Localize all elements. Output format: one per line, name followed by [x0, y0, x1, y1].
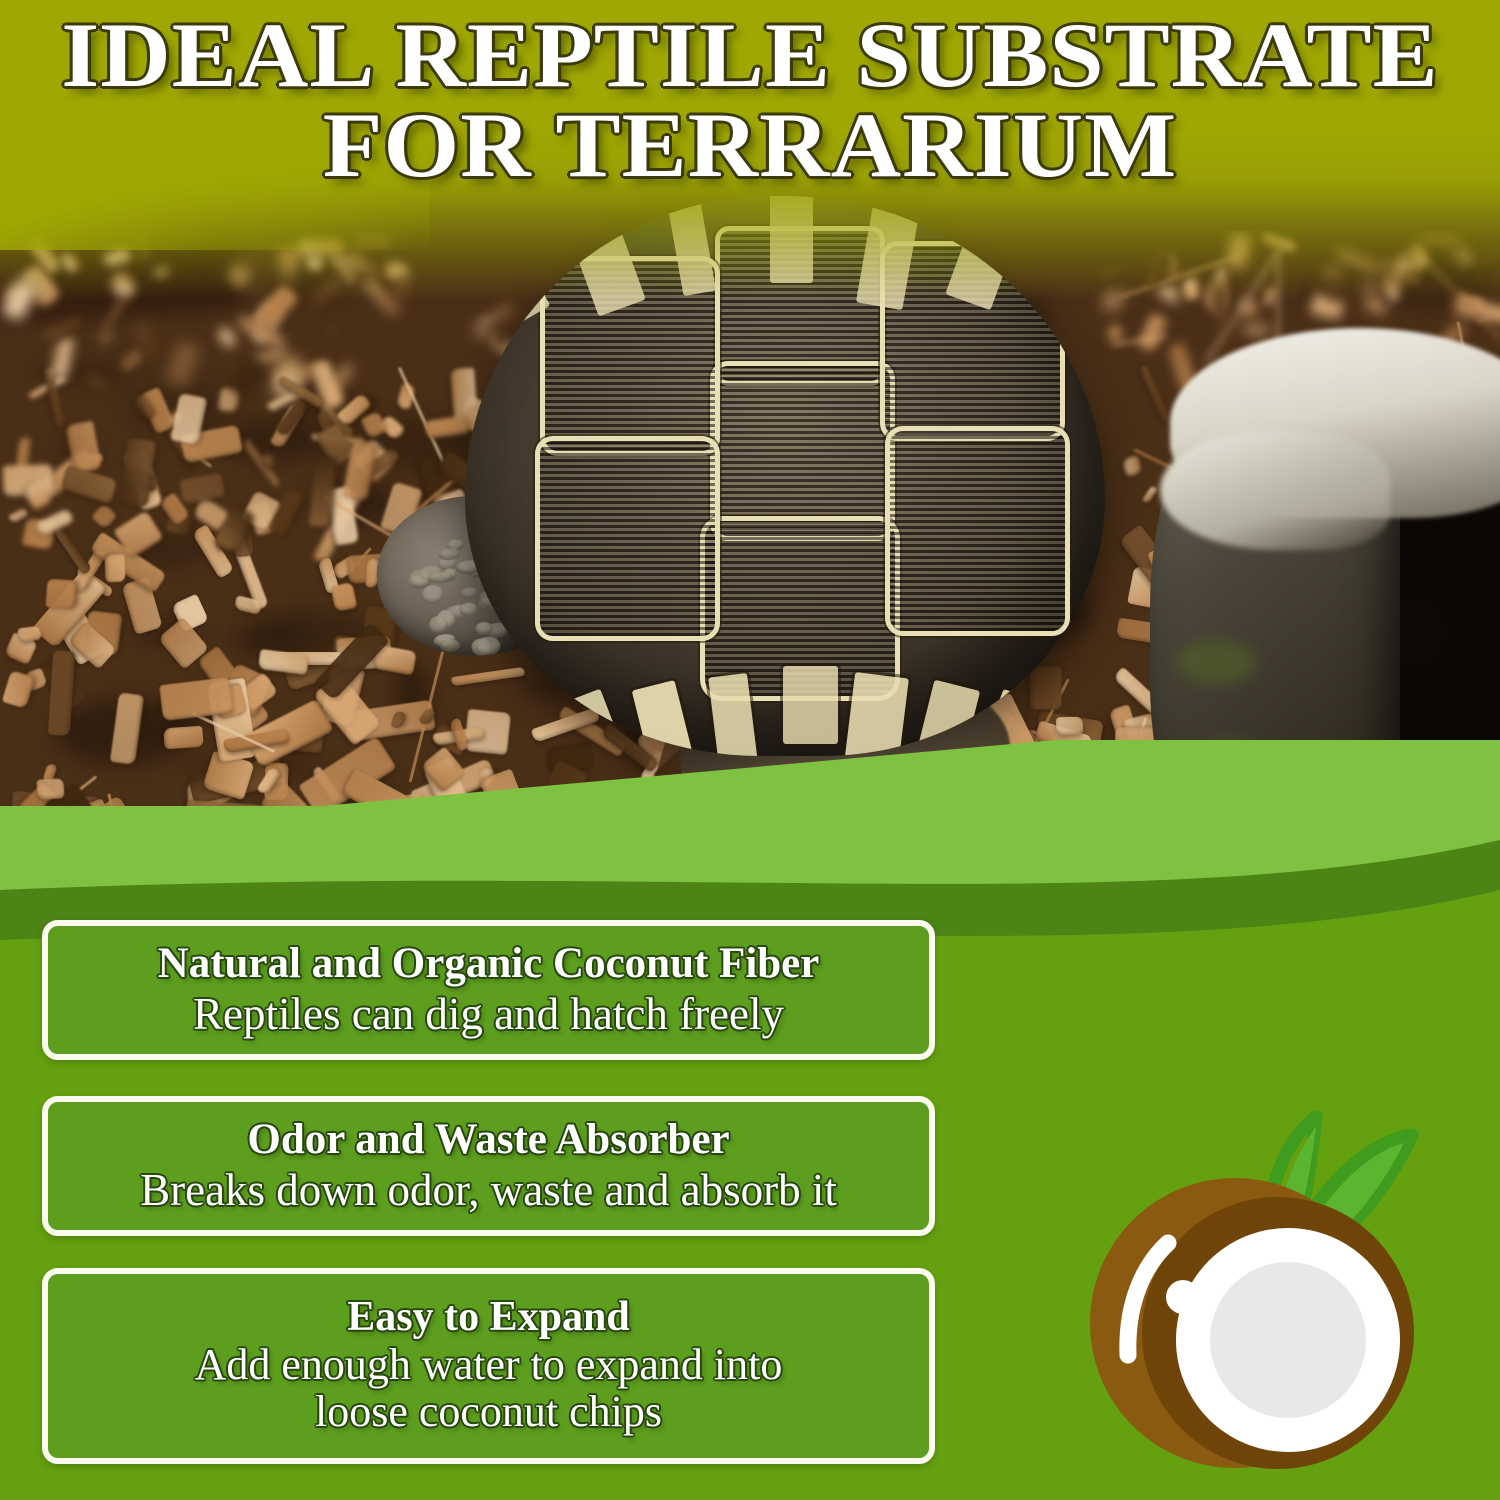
substrate-chip — [215, 325, 239, 349]
feature-subtext: Reptiles can dig and hatch freely — [193, 991, 784, 1038]
tortoise-scute — [885, 426, 1070, 636]
substrate-chip — [2, 670, 36, 709]
title-line-1: IDEAL REPTILE SUBSTRATE — [61, 4, 1438, 106]
cave-rock-edge — [1160, 430, 1390, 550]
feature-heading: Easy to Expand — [347, 1296, 629, 1338]
substrate-chip — [46, 579, 78, 610]
substrate-chip — [179, 472, 226, 505]
feature-box-easy-expand[interactable]: Easy to Expand Add enough water to expan… — [42, 1268, 935, 1464]
substrate-chip — [330, 582, 357, 612]
infographic-page: IDEAL REPTILE SUBSTRATE FOR TERRARIUM Na… — [0, 0, 1500, 1500]
coconut-highlight-dot — [1166, 1280, 1200, 1314]
feature-box-natural-organic[interactable]: Natural and Organic Coconut Fiber Reptil… — [42, 920, 935, 1060]
substrate-chip — [98, 331, 113, 344]
substrate-chip — [262, 455, 274, 468]
coconut-icon — [1040, 1105, 1460, 1485]
feature-heading: Natural and Organic Coconut Fiber — [158, 942, 820, 985]
cave-moss — [1176, 640, 1256, 684]
feature-subtext: Breaks down odor, waste and absorb it — [140, 1167, 837, 1214]
substrate-chip — [105, 554, 126, 583]
page-title: IDEAL REPTILE SUBSTRATE FOR TERRARIUM — [0, 10, 1500, 190]
substrate-chip — [60, 465, 117, 504]
substrate-chip — [101, 295, 128, 334]
substrate-chip — [53, 524, 93, 576]
title-line-2: FOR TERRARIUM — [0, 100, 1500, 190]
tortoise-leg-scale — [460, 586, 478, 599]
substrate-chip — [91, 503, 118, 530]
substrate-chip — [17, 626, 42, 643]
tortoise-leg-scale — [438, 547, 461, 562]
substrate-chip — [329, 327, 341, 335]
coconut-flesh-inner — [1210, 1262, 1366, 1418]
feature-subtext: Add enough water to expand into loose co… — [195, 1342, 783, 1435]
feature-heading: Odor and Waste Absorber — [247, 1118, 729, 1161]
feature-box-odor-waste[interactable]: Odor and Waste Absorber Breaks down odor… — [42, 1096, 935, 1236]
tortoise-marginal-scute — [783, 666, 839, 744]
tortoise-leg-scale — [440, 639, 461, 652]
tortoise-scute — [710, 361, 895, 541]
tortoise-scute — [535, 436, 720, 641]
